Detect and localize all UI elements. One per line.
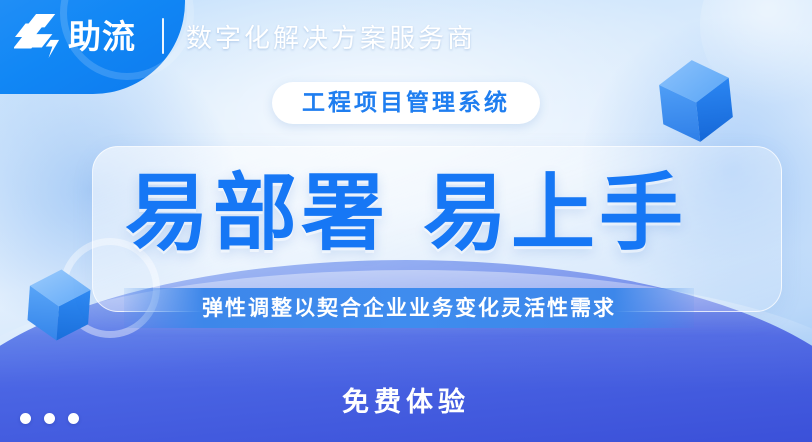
carousel-dot-2[interactable] (44, 413, 55, 424)
headline-part-2: 易上手 (423, 166, 687, 260)
product-badge-label: 工程项目管理系统 (302, 89, 510, 115)
lightning-bolt-logo-icon (14, 13, 62, 59)
subtitle-band: 弹性调整以契合企业业务变化灵活性需求 (124, 288, 694, 328)
free-trial-cta-label: 免费体验 (342, 387, 470, 417)
page-title: 易部署易上手 (0, 168, 812, 259)
carousel-indicators[interactable] (20, 413, 79, 424)
carousel-dot-3[interactable] (68, 413, 79, 424)
header-bar: 助流 数字化解决方案服务商 (0, 0, 812, 72)
carousel-dot-1[interactable] (20, 413, 31, 424)
free-trial-cta[interactable]: 免费体验 (0, 388, 812, 418)
header-divider (162, 18, 164, 54)
product-badge[interactable]: 工程项目管理系统 (272, 82, 540, 124)
subtitle-text: 弹性调整以契合企业业务变化灵活性需求 (202, 298, 616, 319)
promo-banner: 助流 数字化解决方案服务商 工程项目管理系统 易部署易上手 弹性调整以契合企业业… (0, 0, 812, 442)
brand-tagline: 数字化解决方案服务商 (186, 18, 476, 55)
brand-name: 助流 (68, 20, 136, 53)
brand-logo[interactable]: 助流 (14, 13, 136, 59)
headline-part-1: 易部署 (125, 166, 389, 260)
